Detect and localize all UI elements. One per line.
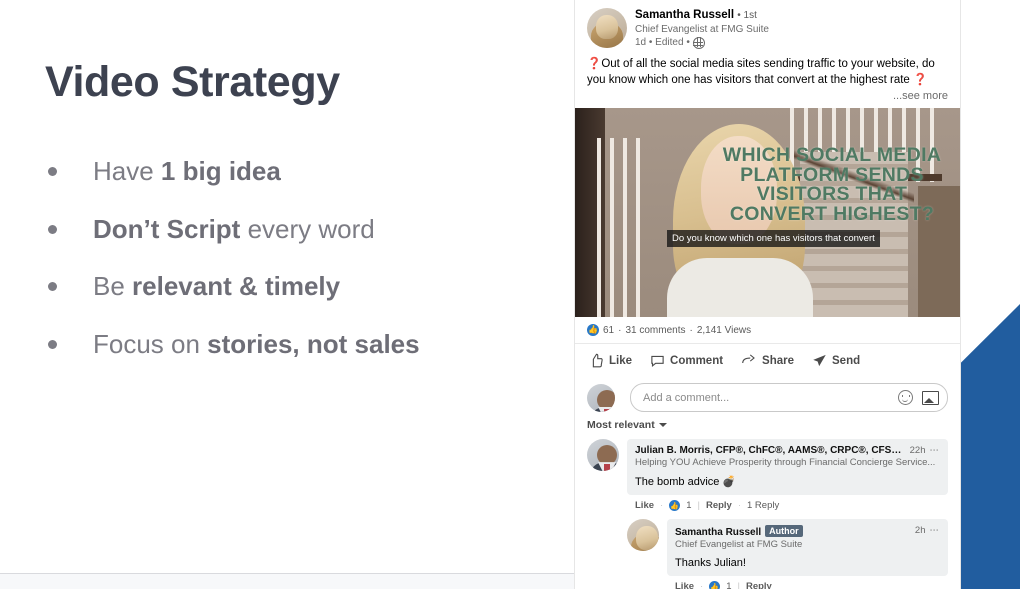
comment-button[interactable]: Comment (650, 353, 723, 368)
commenter-name-text: Julian B. Morris, CFP®, ChFC®, AAMS®, CR… (635, 445, 901, 456)
like-button-label: Like (609, 355, 632, 367)
bullet-text: Focus on stories, not sales (93, 328, 420, 361)
comment-item: Julian B. Morris, CFP®, ChFC®, AAMS®, CR… (575, 436, 960, 511)
video-caption: Do you know which one has visitors that … (667, 230, 880, 247)
bullet-dot-icon (48, 282, 57, 291)
comment-reply-button[interactable]: Reply (746, 581, 772, 589)
post-meta: 1d • Edited • (635, 37, 948, 50)
author-degree: • 1st (737, 10, 757, 21)
author-badge: Author (765, 525, 803, 537)
thumbs-up-icon (589, 353, 604, 368)
comment-item: Samantha RussellAuthor 2h ⋯ Chief Evange… (575, 511, 960, 589)
comment-meta: 22h ⋯ (910, 445, 940, 456)
separator: · (738, 500, 741, 511)
comment-input-icons (898, 390, 939, 405)
share-arrow-icon (741, 353, 757, 368)
comment-like-button[interactable]: Like (635, 500, 654, 511)
slide-left-pane: Video Strategy Have 1 big idea Don’t Scr… (0, 0, 575, 589)
comment-sort-label: Most relevant (587, 419, 655, 431)
author-name-text: Samantha Russell (635, 9, 734, 21)
chevron-down-icon (659, 423, 667, 427)
send-paper-plane-icon (812, 353, 827, 368)
post-video-thumbnail[interactable]: WHICH SOCIAL MEDIA PLATFORM SENDS VISITO… (575, 108, 960, 317)
commenter-degree: • 2nd (902, 445, 904, 455)
video-subject-body (667, 258, 813, 317)
post-author-name[interactable]: Samantha Russell • 1st (635, 8, 948, 23)
comment-content: Julian B. Morris, CFP®, ChFC®, AAMS®, CR… (627, 439, 948, 511)
post-timestamp: 1d • Edited • (635, 37, 690, 50)
more-options-icon[interactable]: ⋯ (930, 525, 941, 536)
see-more-link[interactable]: ...see more (575, 88, 960, 108)
bullet-text: Don’t Script every word (93, 213, 375, 246)
comment-sort-dropdown[interactable]: Most relevant (575, 412, 960, 436)
comment-reply-button[interactable]: Reply (706, 500, 732, 511)
linkedin-post-card: Samantha Russell • 1st Chief Evangelist … (575, 0, 960, 589)
avatar[interactable] (587, 439, 619, 471)
share-button-label: Share (762, 355, 794, 367)
bullet-dot-icon (48, 340, 57, 349)
comment-content: Samantha RussellAuthor 2h ⋯ Chief Evange… (667, 519, 948, 589)
blue-accent-shape (960, 300, 1024, 589)
like-button[interactable]: Like (589, 353, 632, 368)
speech-bubble-icon (650, 353, 665, 368)
post-engagement-counts: 👍 61 · 31 comments · 2,141 Views (575, 317, 960, 344)
question-emoji-icon: ❓ (587, 58, 601, 70)
separator: · (660, 500, 663, 511)
comment-meta: 2h ⋯ (915, 525, 940, 536)
page-title: Video Strategy (45, 60, 340, 105)
list-item: Don’t Script every word (48, 213, 548, 246)
question-emoji-icon: ❓ (913, 74, 927, 86)
image-icon[interactable] (922, 391, 939, 405)
bullet-dot-icon (48, 167, 57, 176)
comment-text: The bomb advice 💣 (635, 475, 940, 488)
comment-input[interactable]: Add a comment... (630, 383, 948, 412)
comment-timestamp: 2h (915, 525, 926, 536)
post-action-bar: Like Comment Share Send (575, 344, 960, 377)
comment-timestamp: 22h (910, 445, 926, 456)
comment-count[interactable]: 31 comments (625, 325, 685, 336)
post-text: ❓Out of all the social media sites sendi… (575, 50, 960, 89)
count-separator: · (618, 325, 621, 336)
separator: · (700, 581, 703, 589)
comment-like-button[interactable]: Like (675, 581, 694, 589)
commenter-headline: Chief Evangelist at FMG Suite (675, 539, 940, 550)
count-separator: · (690, 325, 693, 336)
bullet-list: Have 1 big idea Don’t Script every word … (48, 155, 548, 385)
video-overlay-text: WHICH SOCIAL MEDIA PLATFORM SENDS VISITO… (708, 146, 956, 224)
bullet-text: Have 1 big idea (93, 155, 281, 188)
reaction-count[interactable]: 61 (603, 325, 614, 336)
comment-reply-count[interactable]: 1 Reply (747, 500, 779, 511)
avatar[interactable] (627, 519, 659, 551)
comment-input-placeholder: Add a comment... (643, 392, 898, 404)
emoji-icon[interactable] (898, 390, 913, 405)
commenter-name-text: Samantha Russell (675, 527, 761, 538)
post-author-block: Samantha Russell • 1st Chief Evangelist … (635, 8, 948, 50)
comment-like-count: 1 (726, 581, 731, 589)
comment-header: Samantha RussellAuthor 2h ⋯ (675, 525, 940, 538)
like-reaction-icon: 👍 (669, 500, 680, 511)
comment-bubble: Samantha RussellAuthor 2h ⋯ Chief Evange… (667, 519, 948, 576)
comment-bubble: Julian B. Morris, CFP®, ChFC®, AAMS®, CR… (627, 439, 948, 495)
globe-icon (693, 37, 705, 49)
like-reaction-icon: 👍 (587, 324, 599, 336)
comment-text: Thanks Julian! (675, 557, 940, 569)
list-item: Be relevant & timely (48, 270, 548, 303)
view-count: 2,141 Views (697, 325, 751, 336)
list-item: Have 1 big idea (48, 155, 548, 188)
post-author-headline: Chief Evangelist at FMG Suite (635, 24, 948, 37)
avatar[interactable] (587, 8, 627, 48)
blue-accent-gap (1020, 300, 1024, 589)
post-text-body: Out of all the social media sites sendin… (587, 58, 935, 86)
share-button[interactable]: Share (741, 353, 794, 368)
comment-header: Julian B. Morris, CFP®, ChFC®, AAMS®, CR… (635, 445, 940, 456)
slide-bottom-strip (0, 574, 575, 589)
like-reaction-icon: 👍 (709, 581, 720, 589)
comment-like-count: 1 (686, 500, 691, 511)
send-button[interactable]: Send (812, 353, 860, 368)
presentation-slide: Video Strategy Have 1 big idea Don’t Scr… (0, 0, 1024, 589)
commenter-name[interactable]: Julian B. Morris, CFP®, ChFC®, AAMS®, CR… (635, 445, 904, 456)
list-item: Focus on stories, not sales (48, 328, 548, 361)
comment-button-label: Comment (670, 355, 723, 367)
separator: | (697, 500, 699, 511)
add-comment-row: Add a comment... (575, 377, 960, 412)
more-options-icon[interactable]: ⋯ (930, 445, 941, 456)
post-header: Samantha Russell • 1st Chief Evangelist … (575, 0, 960, 50)
video-left-railing (597, 138, 645, 317)
bullet-text: Be relevant & timely (93, 270, 340, 303)
comment-actions: Like · 👍 1 | Reply · 1 Reply (627, 495, 948, 511)
commenter-headline: Helping YOU Achieve Prosperity through F… (635, 457, 940, 468)
separator: | (737, 581, 739, 589)
send-button-label: Send (832, 355, 860, 367)
current-user-avatar[interactable] (587, 384, 615, 412)
comment-actions: Like · 👍 1 | Reply (667, 576, 948, 589)
commenter-name[interactable]: Samantha RussellAuthor (675, 525, 909, 538)
bullet-dot-icon (48, 225, 57, 234)
